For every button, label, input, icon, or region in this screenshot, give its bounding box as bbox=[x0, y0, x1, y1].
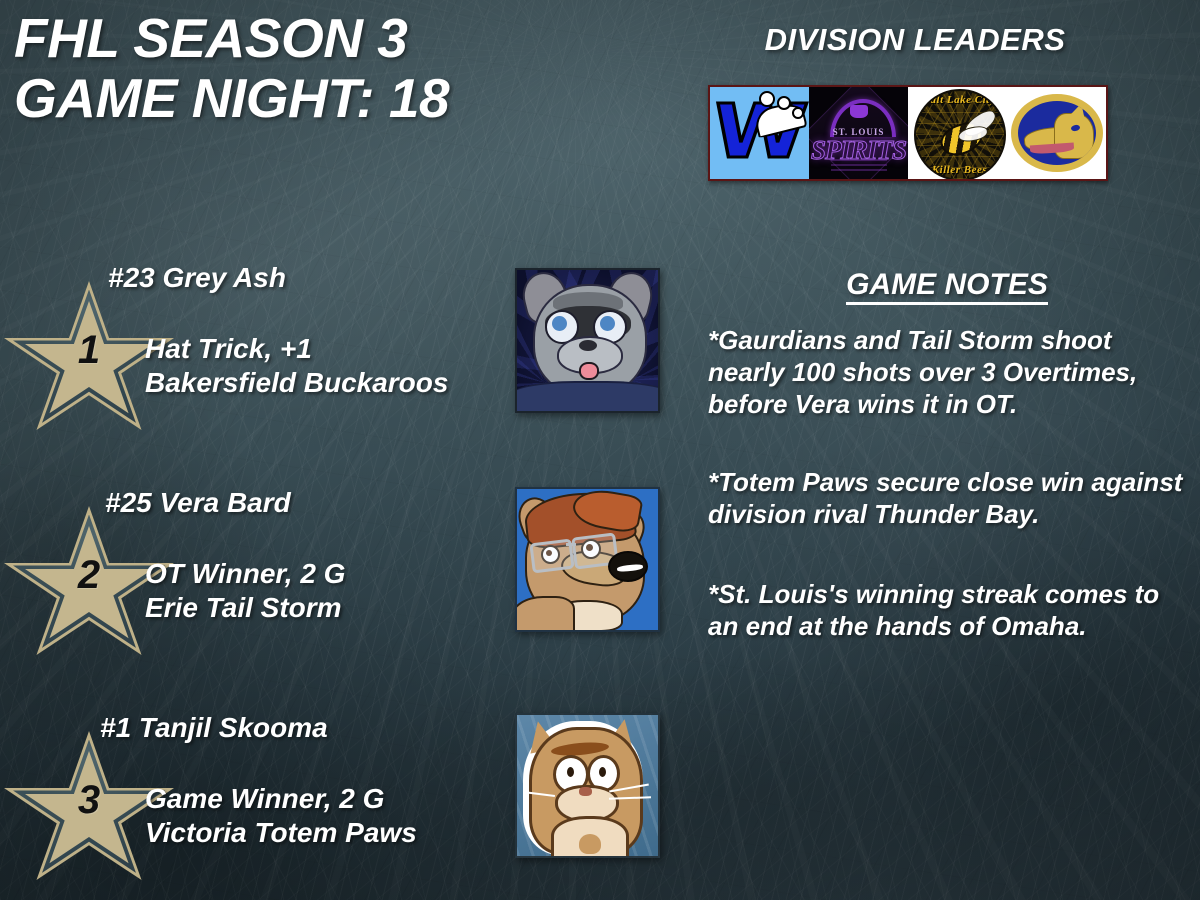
division-leaders-section: DIVISION LEADERS bbox=[700, 22, 1130, 58]
star-player-detail: Hat Trick, +1 Bakersfield Buckaroos bbox=[145, 332, 448, 400]
raccoon-pupil-icon bbox=[600, 316, 615, 331]
spirits-critter-icon bbox=[850, 105, 868, 118]
cat-tuft-icon bbox=[579, 834, 601, 854]
spirits-reflection-shape bbox=[831, 159, 887, 173]
game-notes-title-text: GAME NOTES bbox=[846, 268, 1048, 305]
star-player-detail: OT Winner, 2 G Erie Tail Storm bbox=[145, 557, 345, 625]
bees-name-text: Killer Bees bbox=[916, 164, 1004, 176]
grey-ash-portrait[interactable] bbox=[515, 268, 660, 413]
star-badge: 2 bbox=[4, 501, 174, 673]
tanjil-skooma-portrait[interactable] bbox=[515, 713, 660, 858]
cat-pupil-icon bbox=[567, 767, 574, 777]
cat-nose-icon bbox=[579, 787, 592, 796]
coyote-body-icon bbox=[515, 596, 575, 632]
star-rank-number: 2 bbox=[4, 553, 174, 598]
game-note: *Totem Paws secure close win against div… bbox=[708, 466, 1186, 530]
page-title: FHL SEASON 3 GAME NIGHT: 18 bbox=[14, 8, 449, 128]
star-badge: 1 bbox=[4, 276, 174, 448]
vera-bard-portrait[interactable] bbox=[515, 487, 660, 632]
wolves-oval-shape bbox=[1011, 94, 1103, 172]
bees-city-text: Salt Lake City bbox=[916, 94, 1004, 106]
wave-droplet-icon bbox=[777, 96, 791, 110]
raccoon-nose-icon bbox=[579, 340, 597, 351]
raccoon-shoulder-icon bbox=[515, 381, 660, 413]
division-leaders-logo-strip: W ST. LOUIS SPIRITS Salt Lake City Kille… bbox=[708, 85, 1108, 181]
star-player-name: #23 Grey Ash bbox=[108, 262, 286, 294]
game-notes-title: GAME NOTES bbox=[708, 268, 1186, 302]
raccoon-tongue-icon bbox=[579, 362, 599, 380]
wave-droplet-icon bbox=[759, 91, 775, 107]
star-rank-number: 3 bbox=[4, 778, 174, 823]
wave-logo[interactable]: W bbox=[710, 87, 809, 179]
bees-honeycomb-disc: Salt Lake City Killer Bees bbox=[914, 89, 1006, 179]
game-notes-section: GAME NOTES *Gaurdians and Tail Storm sho… bbox=[708, 268, 1186, 669]
salt-lake-city-killer-bees-logo[interactable]: Salt Lake City Killer Bees bbox=[908, 87, 1007, 179]
game-note: *Gaurdians and Tail Storm shoot nearly 1… bbox=[708, 324, 1186, 420]
st-louis-spirits-logo[interactable]: ST. LOUIS SPIRITS bbox=[809, 87, 908, 179]
raccoon-pupil-icon bbox=[552, 316, 567, 331]
glasses-bridge-icon bbox=[566, 543, 576, 546]
cat-pupil-icon bbox=[599, 767, 606, 777]
wave-droplet-icon bbox=[792, 107, 804, 119]
title-line-season: FHL SEASON 3 bbox=[14, 8, 449, 68]
star-badge: 3 bbox=[4, 726, 174, 898]
star-rank-number: 1 bbox=[4, 328, 174, 373]
star-player-detail: Game Winner, 2 G Victoria Totem Paws bbox=[145, 782, 417, 850]
wolves-logo[interactable] bbox=[1007, 87, 1106, 179]
star-player-name: #25 Vera Bard bbox=[105, 487, 291, 519]
title-line-game-night: GAME NIGHT: 18 bbox=[14, 68, 449, 128]
star-player-name: #1 Tanjil Skooma bbox=[100, 712, 328, 744]
game-note: *St. Louis's winning streak comes to an … bbox=[708, 578, 1186, 642]
slide-canvas: FHL SEASON 3 GAME NIGHT: 18 DIVISION LEA… bbox=[0, 0, 1200, 900]
division-leaders-title: DIVISION LEADERS bbox=[700, 22, 1130, 58]
